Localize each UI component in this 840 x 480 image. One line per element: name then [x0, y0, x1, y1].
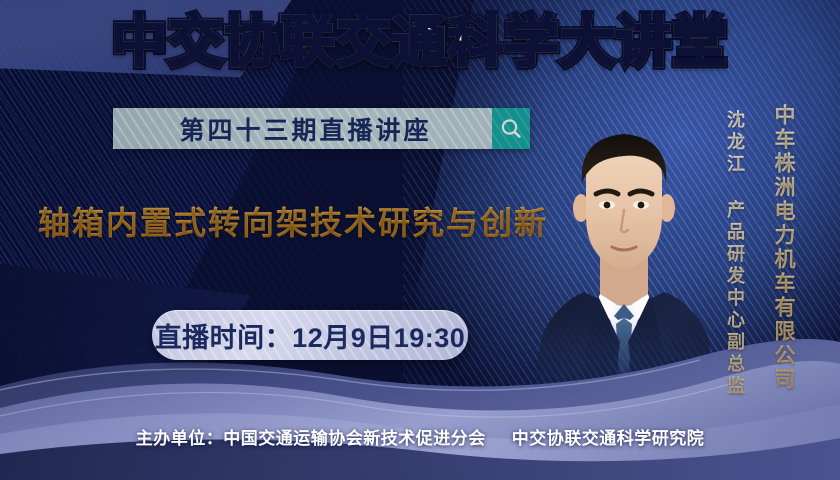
footer-prefix: 主办单位：: [136, 429, 224, 448]
broadcast-time-text: 直播时间：12月9日19:30: [155, 316, 466, 355]
footer-organizer-1: 中国交通运输协会新技术促进分会: [223, 429, 486, 448]
broadcast-time-pill: 直播时间：12月9日19:30: [152, 310, 468, 360]
search-button[interactable]: [492, 108, 530, 149]
main-title: 中交协联交通科学大讲堂: [0, 14, 840, 72]
topic-title: 轴箱内置式转向架技术研究与创新: [38, 198, 548, 244]
footer-organizer-2: 中交协联交通科学研究院: [512, 429, 705, 448]
session-bar: 第四十三期直播讲座: [113, 108, 530, 149]
speaker-name-title: 沈龙江 产品研发中心副总监: [722, 110, 748, 398]
session-label: 第四十三期直播讲座: [173, 111, 431, 147]
search-icon: [499, 117, 523, 141]
session-label-wrap: 第四十三期直播讲座: [113, 108, 492, 149]
speaker-company: 中车株洲电力机车有限公司: [768, 104, 798, 392]
live-lecture-poster: 中交协联交通科学大讲堂 中交协联交通科学大讲堂 第四十三期直播讲座 轴箱内置式转…: [0, 0, 840, 480]
speaker-portrait: [520, 104, 728, 404]
footer-organizers: 主办单位：中国交通运输协会新技术促进分会中交协联交通科学研究院: [0, 424, 840, 449]
